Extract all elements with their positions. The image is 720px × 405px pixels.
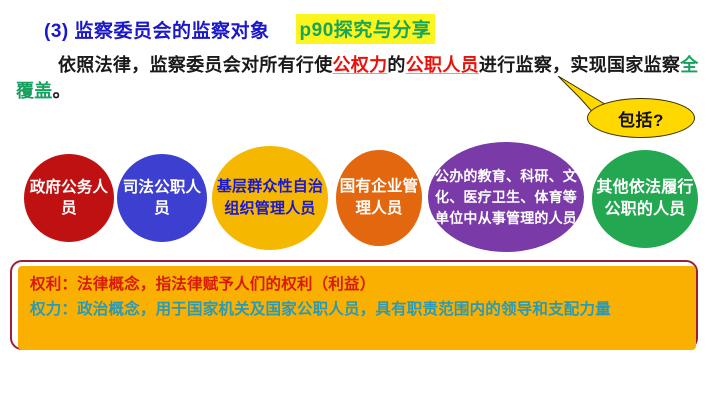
paragraph-segment-4: 。 [53,81,71,101]
emphasis-public-officials: 公职人员 [406,55,479,75]
oval-public-institution-managers[interactable]: 公办的教育、科研、文化、医疗卫生、体育等单位中从事管理的人员 [428,142,584,252]
oval-judicial-officials[interactable]: 司法公职人员 [117,154,207,242]
definition-line-power: 权力：政治概念，用于国家机关及国家公职人员，具有职责范围内的领导和支配力量 [30,297,686,322]
page-title: (3) 监察委员会的监察对象 [44,16,270,43]
title-row: (3) 监察委员会的监察对象 p90探究与分享 [44,14,435,44]
oval-label: 政府公务人员 [24,177,114,219]
title-highlight-badge: p90探究与分享 [296,14,436,44]
callout-bubble: 包括? [587,98,695,138]
paragraph-segment-2: 的 [387,55,405,75]
emphasis-public-power: 公权力 [333,55,388,75]
oval-government-civil-servants[interactable]: 政府公务人员 [24,154,114,242]
oval-label: 司法公职人员 [117,177,207,219]
body-paragraph: 依照法律，监察委员会对所有行使公权力的公职人员进行监察，实现国家监察全覆盖。 [16,52,706,104]
oval-label: 公办的教育、科研、文化、医疗卫生、体育等单位中从事管理的人员 [428,166,584,229]
oval-label: 其他依法履行公职的人员 [592,177,698,221]
definition-line-rights: 权利：法律概念，指法律赋予人们的权利（利益） [30,272,686,297]
oval-other-public-duty-personnel[interactable]: 其他依法履行公职的人员 [592,150,698,248]
paragraph-segment-1: 依照法律，监察委员会对所有行使 [58,55,333,75]
oval-label: 国有企业管理人员 [336,176,422,220]
definition-box: 权利：法律概念，指法律赋予人们的权利（利益） 权力：政治概念，用于国家机关及国家… [18,266,696,350]
paragraph-segment-3: 进行监察，实现国家监察 [479,55,680,75]
oval-state-enterprise-managers[interactable]: 国有企业管理人员 [336,150,422,246]
callout-label: 包括? [618,106,664,131]
slide-canvas: (3) 监察委员会的监察对象 p90探究与分享 依照法律，监察委员会对所有行使公… [0,0,720,405]
oval-label: 基层群众性自治组织管理人员 [212,176,328,220]
category-oval-row: 政府公务人员 司法公职人员 基层群众性自治组织管理人员 国有企业管理人员 公办的… [0,140,720,252]
oval-grassroots-autonomous-managers[interactable]: 基层群众性自治组织管理人员 [212,146,328,250]
